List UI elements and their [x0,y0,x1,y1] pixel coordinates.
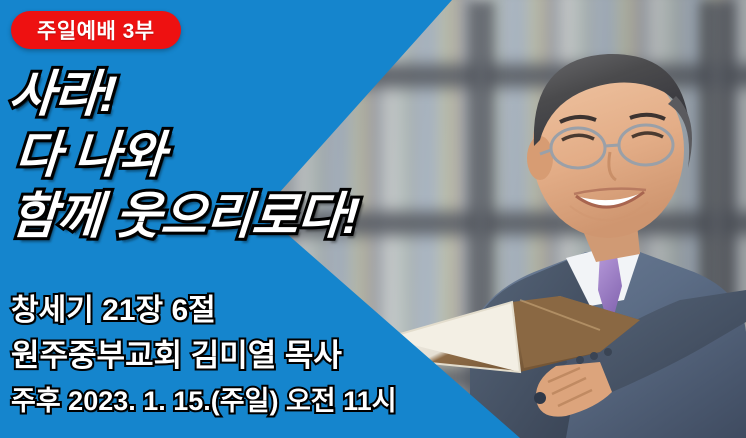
service-info: 창세기 21장 6절 원주중부교회 김미열 목사 주후 2023. 1. 15.… [11,288,481,423]
scripture-reference: 창세기 21장 6절 [11,288,481,333]
headline-line-3: 함께 웃으리로다! [7,186,571,247]
service-badge: 주일예배 3부 [11,11,181,49]
sermon-thumbnail-poster: 주일예배 3부 사라! 다 나와 함께 웃으리로다! 창세기 21장 6절 원주… [0,0,746,438]
headline-line-2: 다 나와 [7,125,571,186]
headline-line-1: 사라! [7,64,571,125]
service-datetime: 주후 2023. 1. 15.(주일) 오전 11시 [11,379,481,423]
service-badge-label: 주일예배 3부 [37,15,155,45]
church-and-pastor: 원주중부교회 김미열 목사 [11,333,481,379]
headline: 사라! 다 나와 함께 웃으리로다! [9,64,569,247]
